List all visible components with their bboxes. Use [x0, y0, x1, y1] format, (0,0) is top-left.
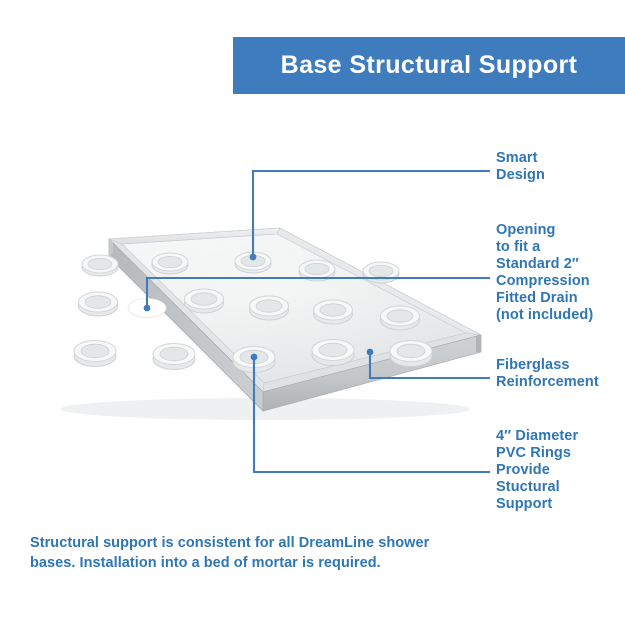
drain-opening: [128, 299, 166, 318]
pvc-ring: [314, 300, 353, 324]
pvc-ring: [74, 341, 116, 367]
header-bar: Base Structural Support: [233, 37, 625, 94]
pvc-ring: [82, 255, 118, 276]
pvc-ring: [250, 296, 289, 320]
pvc-ring: [185, 289, 224, 313]
callout-label-opening-drain: Opening to fit a Standard 2″ Compression…: [496, 222, 593, 324]
pvc-ring: [152, 253, 188, 274]
pvc-ring: [233, 347, 275, 373]
pvc-ring: [235, 252, 271, 273]
callout-label-smart-design: Smart Design: [496, 150, 545, 184]
pvc-ring: [390, 341, 432, 367]
corner-bevel-right: [476, 335, 481, 352]
bottom-caption: Structural support is consistent for all…: [30, 533, 460, 573]
pvc-ring: [312, 340, 354, 366]
callout-label-pvc-rings: 4″ Diameter PVC Rings Provide Stuctural …: [496, 428, 578, 513]
pvc-ring: [381, 306, 420, 330]
callout-label-fiberglass-reinforcement: Fiberglass Reinforcement: [496, 357, 599, 391]
pvc-ring: [363, 262, 399, 283]
pvc-ring: [299, 260, 335, 281]
pvc-ring: [79, 292, 118, 316]
infographic-canvas: Base Structural Support Smart Design Ope…: [0, 0, 625, 625]
pvc-ring: [153, 344, 195, 370]
page-title: Base Structural Support: [281, 51, 578, 80]
